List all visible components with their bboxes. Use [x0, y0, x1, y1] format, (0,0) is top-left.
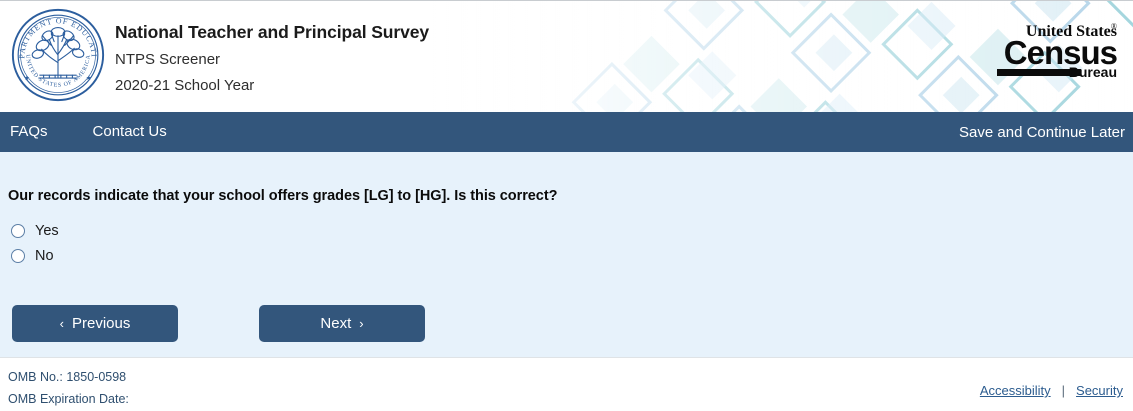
svg-text:★: ★: [23, 74, 29, 82]
radio-label-no: No: [35, 248, 54, 264]
radio-button-yes[interactable]: [11, 224, 25, 238]
omb-number: OMB No.: 1850-0598: [8, 367, 980, 389]
page-header: DEPARTMENT OF EDUCATION UNITED STATES OF…: [0, 0, 1133, 112]
answer-options-group: Yes No: [8, 220, 1125, 267]
radio-label-yes: Yes: [35, 223, 59, 239]
radio-option-yes[interactable]: Yes: [8, 220, 128, 242]
nav-link-faqs[interactable]: FAQs: [0, 112, 58, 152]
dept-education-seal-icon: DEPARTMENT OF EDUCATION UNITED STATES OF…: [10, 7, 106, 103]
question-text: Our records indicate that your school of…: [8, 152, 1125, 204]
survey-content-area: Our records indicate that your school of…: [0, 152, 1133, 357]
page-title: National Teacher and Principal Survey: [115, 21, 979, 44]
navigation-buttons: ‹ Previous Next ›: [8, 305, 1125, 342]
save-and-continue-later-link[interactable]: Save and Continue Later: [959, 124, 1133, 141]
previous-button[interactable]: ‹ Previous: [12, 305, 178, 342]
next-button-label: Next: [320, 315, 351, 332]
dept-education-seal-container: DEPARTMENT OF EDUCATION UNITED STATES OF…: [0, 1, 115, 103]
page-footer: OMB No.: 1850-0598 OMB Expiration Date: …: [0, 357, 1133, 411]
radio-option-no[interactable]: No: [8, 245, 128, 267]
svg-text:★: ★: [85, 74, 91, 82]
security-link[interactable]: Security: [1076, 383, 1123, 398]
chevron-left-icon: ‹: [60, 317, 64, 330]
chevron-right-icon: ›: [359, 317, 363, 330]
svg-text:Bureau: Bureau: [1069, 64, 1117, 80]
previous-button-label: Previous: [72, 315, 130, 332]
census-bureau-logo: United States ® Census Bureau: [979, 1, 1133, 92]
footer-links: Accessibility | Security: [980, 367, 1125, 398]
accessibility-link[interactable]: Accessibility: [980, 383, 1051, 398]
main-navigation-bar: FAQs Contact Us Save and Continue Later: [0, 112, 1133, 152]
nav-link-contact-us[interactable]: Contact Us: [83, 112, 177, 152]
next-button[interactable]: Next ›: [259, 305, 425, 342]
survey-title-block: National Teacher and Principal Survey NT…: [115, 1, 979, 96]
omb-expiration-date: OMB Expiration Date:: [8, 389, 980, 411]
footer-link-separator: |: [1062, 383, 1065, 398]
radio-button-no[interactable]: [11, 249, 25, 263]
survey-school-year: 2020-21 School Year: [115, 76, 979, 96]
survey-subtitle: NTPS Screener: [115, 50, 979, 70]
omb-info: OMB No.: 1850-0598 OMB Expiration Date:: [8, 367, 980, 411]
svg-text:®: ®: [1111, 22, 1117, 31]
